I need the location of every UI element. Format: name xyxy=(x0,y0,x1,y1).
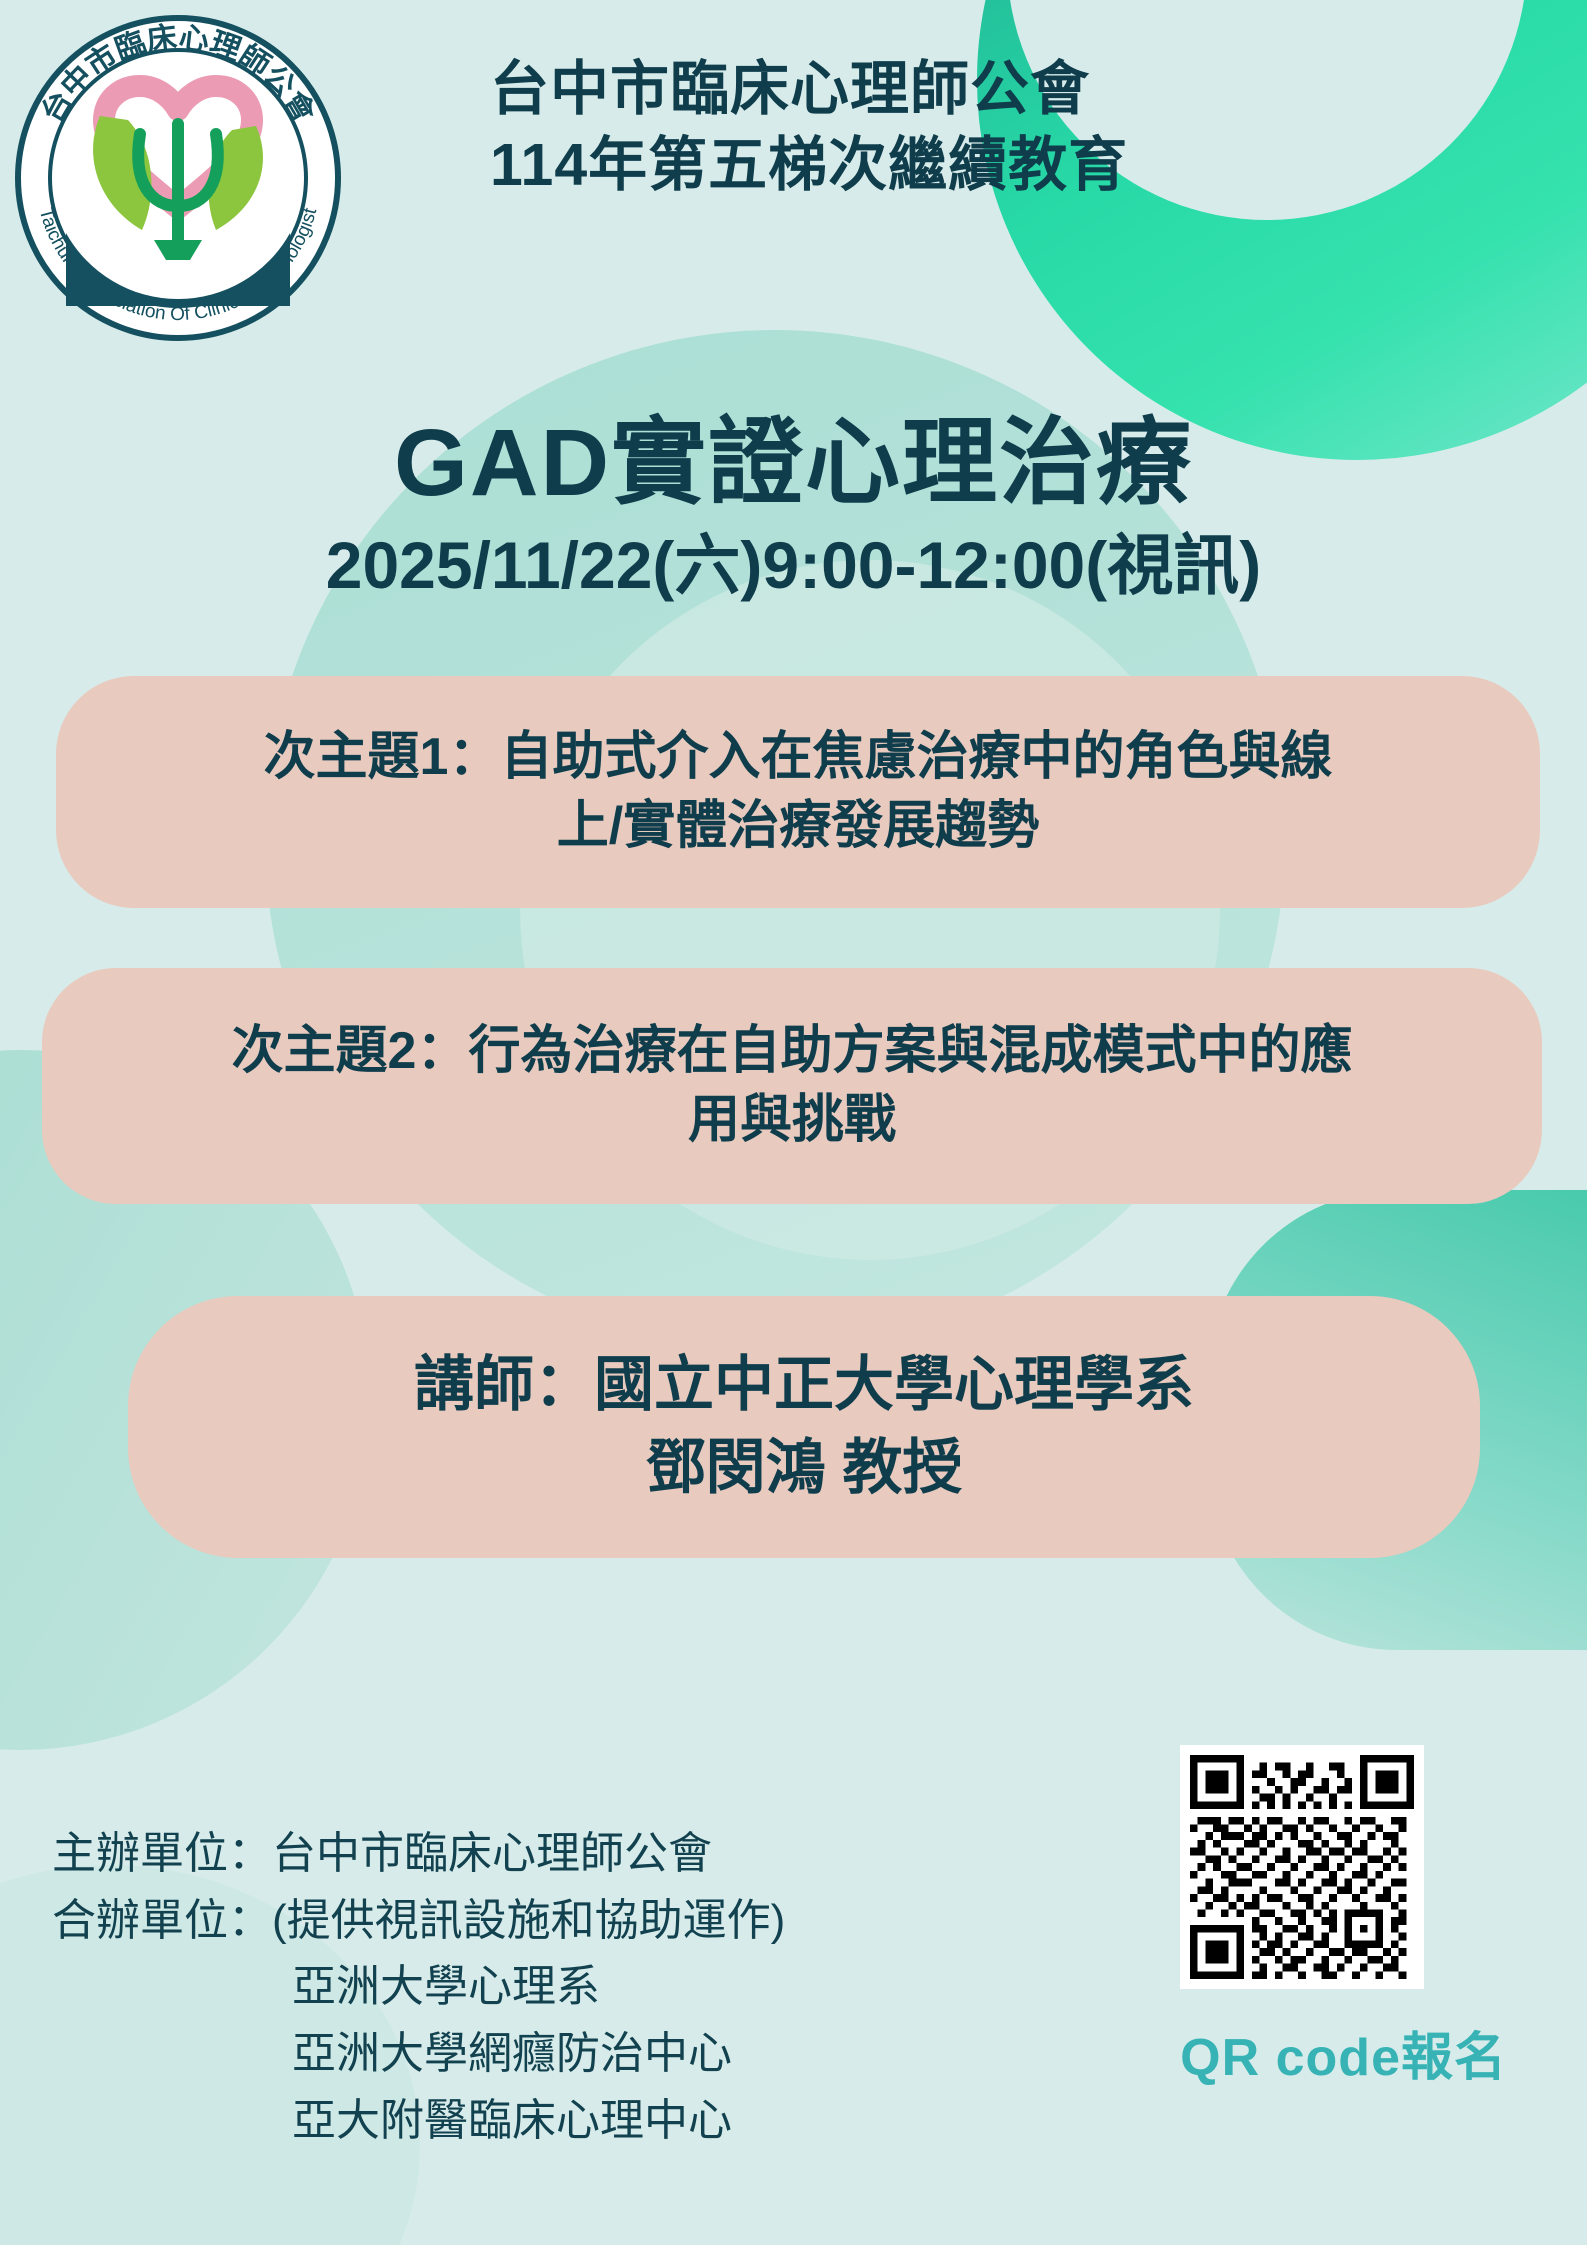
footer-organizers: 主辦單位：台中市臨床心理師公會 合辦單位：(提供視訊設施和協助運作) 亞洲大學心… xyxy=(52,1821,785,2155)
topic-2-text: 次主題2：行為治療在自助方案與混成模式中的應 用與挑戰 xyxy=(232,1017,1353,1154)
speaker-affiliation: 講師：國立中正大學心理學系 xyxy=(414,1351,1194,1418)
qr-code-icon[interactable] xyxy=(1180,1745,1424,1989)
qr-registration-label: QR code報名 xyxy=(1180,2015,1507,2090)
poster-header: 台中市臨床心理師公會 114年第五梯次繼續教育 xyxy=(490,52,1370,203)
title-block: GAD實證心理治療 2025/11/22(六)9:00-12:00(視訊) xyxy=(0,410,1587,606)
coorganizer-item-3: 亞大附醫臨床心理中心 xyxy=(52,2088,785,2155)
speaker-text: 講師：國立中正大學心理學系 鄧閔鴻 教授 xyxy=(414,1344,1194,1510)
svg-text:TCACP: TCACP xyxy=(127,260,229,293)
topic-1-line-2: 上/實體治療發展趨勢 xyxy=(557,797,1039,855)
coorganizer-item-1: 亞洲大學心理系 xyxy=(52,1954,785,2021)
topic-1-line-1: 次主題1：自助式介入在焦慮治療中的角色與線 xyxy=(264,728,1333,786)
qr-registration-block[interactable]: QR code報名 xyxy=(1180,1745,1507,2090)
association-logo: 台中市臨床心理師公會 Taichung Association Of Clini… xyxy=(8,8,348,348)
topic-1-text: 次主題1：自助式介入在焦慮治療中的角色與線 上/實體治療發展趨勢 xyxy=(264,723,1333,860)
header-line-1: 台中市臨床心理師公會 xyxy=(490,52,1370,128)
coorganizer-item-2: 亞洲大學網癮防治中心 xyxy=(52,2021,785,2088)
topic-2-line-1: 次主題2：行為治療在自助方案與混成模式中的應 xyxy=(232,1022,1353,1080)
topic-2-panel: 次主題2：行為治療在自助方案與混成模式中的應 用與挑戰 xyxy=(42,968,1542,1204)
topic-1-panel: 次主題1：自助式介入在焦慮治療中的角色與線 上/實體治療發展趨勢 xyxy=(56,676,1540,908)
event-datetime: 2025/11/22(六)9:00-12:00(視訊) xyxy=(0,526,1587,605)
host-organization: 主辦單位：台中市臨床心理師公會 xyxy=(52,1821,785,1888)
speaker-name: 鄧閔鴻 教授 xyxy=(646,1434,963,1501)
coorganizer-label: 合辦單位：(提供視訊設施和協助運作) xyxy=(52,1888,785,1955)
header-line-2: 114年第五梯次繼續教育 xyxy=(490,128,1370,204)
speaker-panel: 講師：國立中正大學心理學系 鄧閔鴻 教授 xyxy=(128,1296,1480,1558)
poster-canvas: 台中市臨床心理師公會 Taichung Association Of Clini… xyxy=(0,0,1587,2245)
page-title: GAD實證心理治療 xyxy=(0,410,1587,516)
topic-2-line-2: 用與挑戰 xyxy=(688,1091,896,1149)
